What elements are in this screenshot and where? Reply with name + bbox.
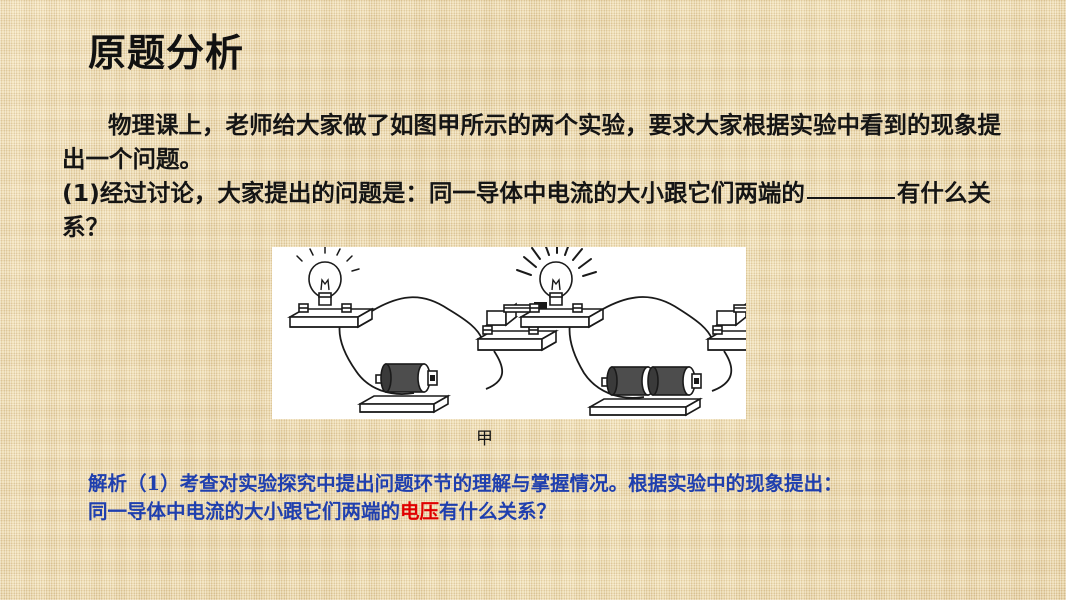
question-body: 物理课上，老师给大家做了如图甲所示的两个实验，要求大家根据实验中看到的现象提出一…: [62, 108, 1004, 244]
page-title: 原题分析: [88, 22, 244, 77]
analysis-highlight: 电压: [400, 500, 439, 523]
question-item-1-prefix: (1)经过讨论，大家提出的问题是：同一导体中电流的大小跟它们两端的: [62, 179, 805, 207]
analysis-line-2: 同一导体中电流的大小跟它们两端的电压有什么关系？: [88, 498, 988, 526]
analysis-block: 解析（1）考查对实验探究中提出问题环节的理解与掌握情况。根据实验中的现象提出： …: [88, 470, 988, 526]
analysis-line-2-prefix: 同一导体中电流的大小跟它们两端的: [88, 500, 400, 523]
circuit-figure-panel: [272, 247, 746, 419]
circuit-diagram-svg: [272, 247, 746, 419]
analysis-line-1: 解析（1）考查对实验探究中提出问题环节的理解与掌握情况。根据实验中的现象提出：: [88, 470, 988, 498]
question-item-1: (1)经过讨论，大家提出的问题是：同一导体中电流的大小跟它们两端的有什么关系？: [62, 176, 1004, 244]
analysis-line-2-suffix: 有什么关系？: [439, 500, 556, 523]
question-paragraph-1: 物理课上，老师给大家做了如图甲所示的两个实验，要求大家根据实验中看到的现象提出一…: [62, 108, 1004, 176]
figure-caption: 甲: [476, 424, 493, 449]
slide-canvas: 原题分析 物理课上，老师给大家做了如图甲所示的两个实验，要求大家根据实验中看到的…: [0, 0, 1066, 600]
answer-blank[interactable]: [807, 197, 895, 199]
